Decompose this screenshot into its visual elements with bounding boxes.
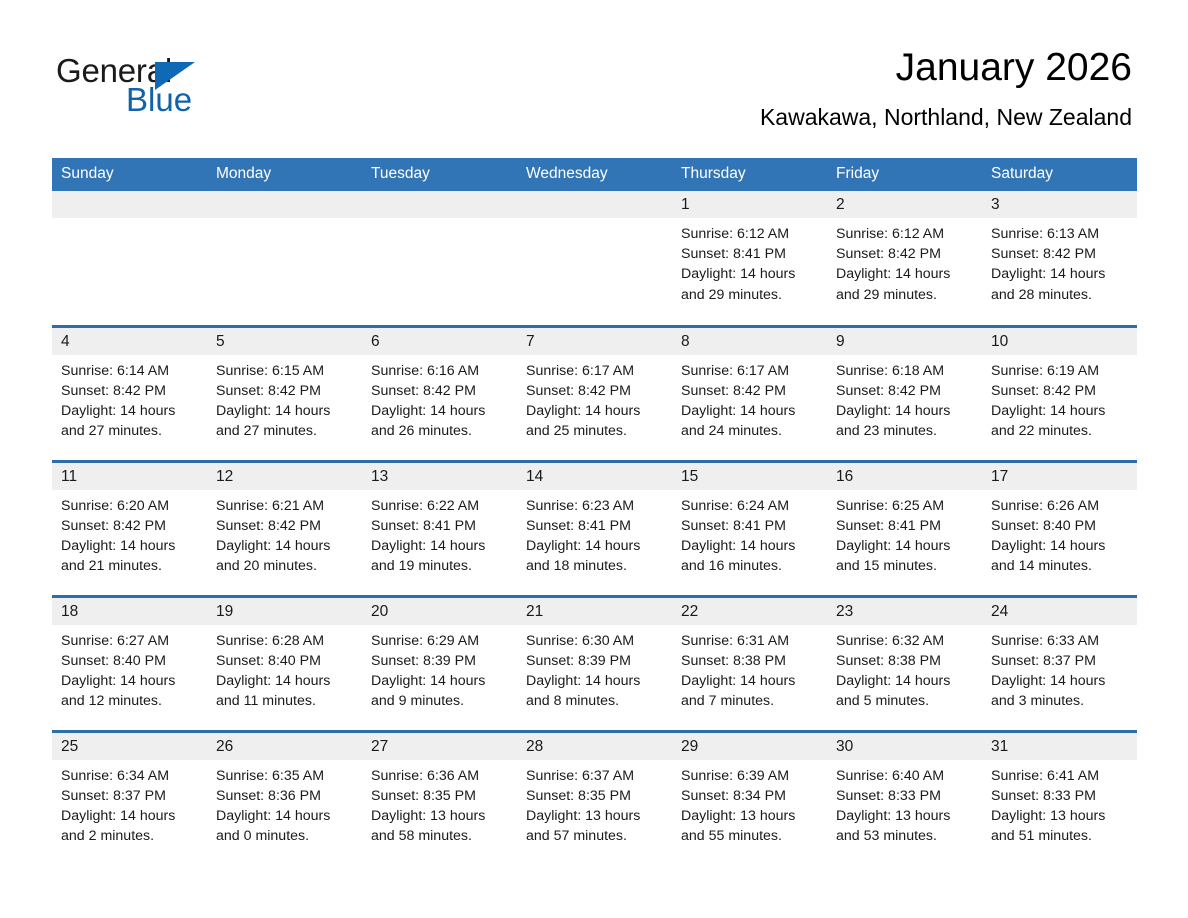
daylight-text-line2: and 12 minutes.: [61, 691, 199, 711]
calendar-day-cell[interactable]: 15Sunrise: 6:24 AMSunset: 8:41 PMDayligh…: [672, 461, 827, 596]
daylight-text-line2: and 11 minutes.: [216, 691, 354, 711]
daylight-text-line2: and 20 minutes.: [216, 556, 354, 576]
daylight-text-line1: Daylight: 14 hours: [216, 671, 354, 691]
calendar-day-cell[interactable]: 17Sunrise: 6:26 AMSunset: 8:40 PMDayligh…: [982, 461, 1137, 596]
day-details: Sunrise: 6:17 AMSunset: 8:42 PMDaylight:…: [672, 355, 827, 442]
calendar-header-row: Sunday Monday Tuesday Wednesday Thursday…: [52, 158, 1137, 191]
daylight-text-line2: and 24 minutes.: [681, 421, 819, 441]
day-details: Sunrise: 6:31 AMSunset: 8:38 PMDaylight:…: [672, 625, 827, 712]
day-details: Sunrise: 6:14 AMSunset: 8:42 PMDaylight:…: [52, 355, 207, 442]
daylight-text-line1: Daylight: 14 hours: [61, 401, 199, 421]
day-number: 20: [362, 598, 517, 625]
day-details: Sunrise: 6:20 AMSunset: 8:42 PMDaylight:…: [52, 490, 207, 577]
day-details: Sunrise: 6:15 AMSunset: 8:42 PMDaylight:…: [207, 355, 362, 442]
daylight-text-line2: and 5 minutes.: [836, 691, 974, 711]
day-number: 10: [982, 328, 1137, 355]
weekday-header-wednesday: Wednesday: [517, 158, 672, 191]
sunrise-text: Sunrise: 6:14 AM: [61, 361, 199, 381]
sunrise-text: Sunrise: 6:26 AM: [991, 496, 1129, 516]
daylight-text-line2: and 26 minutes.: [371, 421, 509, 441]
sunset-text: Sunset: 8:42 PM: [991, 244, 1129, 264]
daylight-text-line2: and 57 minutes.: [526, 826, 664, 846]
calendar-day-cell[interactable]: 6Sunrise: 6:16 AMSunset: 8:42 PMDaylight…: [362, 326, 517, 461]
daylight-text-line1: Daylight: 14 hours: [61, 671, 199, 691]
day-details: Sunrise: 6:32 AMSunset: 8:38 PMDaylight:…: [827, 625, 982, 712]
calendar-table: Sunday Monday Tuesday Wednesday Thursday…: [52, 158, 1137, 866]
daylight-text-line1: Daylight: 14 hours: [681, 536, 819, 556]
sunrise-text: Sunrise: 6:32 AM: [836, 631, 974, 651]
daylight-text-line1: Daylight: 14 hours: [681, 401, 819, 421]
daylight-text-line2: and 0 minutes.: [216, 826, 354, 846]
day-details: Sunrise: 6:41 AMSunset: 8:33 PMDaylight:…: [982, 760, 1137, 847]
weekday-header-saturday: Saturday: [982, 158, 1137, 191]
sunrise-text: Sunrise: 6:25 AM: [836, 496, 974, 516]
sunrise-text: Sunrise: 6:37 AM: [526, 766, 664, 786]
calendar-day-cell[interactable]: 11Sunrise: 6:20 AMSunset: 8:42 PMDayligh…: [52, 461, 207, 596]
daylight-text-line1: Daylight: 14 hours: [216, 536, 354, 556]
sunrise-text: Sunrise: 6:23 AM: [526, 496, 664, 516]
day-number: 13: [362, 463, 517, 490]
sunrise-text: Sunrise: 6:12 AM: [836, 224, 974, 244]
sunset-text: Sunset: 8:39 PM: [526, 651, 664, 671]
day-details: Sunrise: 6:17 AMSunset: 8:42 PMDaylight:…: [517, 355, 672, 442]
daylight-text-line1: Daylight: 14 hours: [836, 401, 974, 421]
day-number: 9: [827, 328, 982, 355]
daylight-text-line2: and 18 minutes.: [526, 556, 664, 576]
day-number: 11: [52, 463, 207, 490]
sunrise-text: Sunrise: 6:12 AM: [681, 224, 819, 244]
daylight-text-line2: and 27 minutes.: [61, 421, 199, 441]
weekday-header-sunday: Sunday: [52, 158, 207, 191]
calendar-day-cell[interactable]: 2Sunrise: 6:12 AMSunset: 8:42 PMDaylight…: [827, 191, 982, 326]
daylight-text-line1: Daylight: 14 hours: [836, 264, 974, 284]
sunset-text: Sunset: 8:41 PM: [681, 516, 819, 536]
calendar-day-cell-empty: [362, 191, 517, 326]
daylight-text-line1: Daylight: 14 hours: [681, 264, 819, 284]
day-number: 30: [827, 733, 982, 760]
calendar-day-cell[interactable]: 5Sunrise: 6:15 AMSunset: 8:42 PMDaylight…: [207, 326, 362, 461]
sunrise-text: Sunrise: 6:13 AM: [991, 224, 1129, 244]
day-details: Sunrise: 6:26 AMSunset: 8:40 PMDaylight:…: [982, 490, 1137, 577]
day-details: Sunrise: 6:21 AMSunset: 8:42 PMDaylight:…: [207, 490, 362, 577]
sunset-text: Sunset: 8:42 PM: [61, 381, 199, 401]
sunset-text: Sunset: 8:39 PM: [371, 651, 509, 671]
calendar-week-row: 18Sunrise: 6:27 AMSunset: 8:40 PMDayligh…: [52, 596, 1137, 731]
daylight-text-line1: Daylight: 14 hours: [991, 671, 1129, 691]
logo-text-blue: Blue: [126, 81, 192, 119]
daylight-text-line2: and 29 minutes.: [836, 285, 974, 305]
daylight-text-line1: Daylight: 14 hours: [836, 536, 974, 556]
day-details: Sunrise: 6:13 AMSunset: 8:42 PMDaylight:…: [982, 218, 1137, 305]
calendar-day-cell[interactable]: 18Sunrise: 6:27 AMSunset: 8:40 PMDayligh…: [52, 596, 207, 731]
sunset-text: Sunset: 8:42 PM: [371, 381, 509, 401]
sunrise-text: Sunrise: 6:35 AM: [216, 766, 354, 786]
day-number: 16: [827, 463, 982, 490]
sunrise-text: Sunrise: 6:19 AM: [991, 361, 1129, 381]
calendar-week-row: 25Sunrise: 6:34 AMSunset: 8:37 PMDayligh…: [52, 731, 1137, 866]
sunrise-text: Sunrise: 6:39 AM: [681, 766, 819, 786]
daylight-text-line1: Daylight: 13 hours: [526, 806, 664, 826]
day-number: 4: [52, 328, 207, 355]
calendar-day-cell-empty: [207, 191, 362, 326]
daylight-text-line2: and 53 minutes.: [836, 826, 974, 846]
calendar-week-row: 11Sunrise: 6:20 AMSunset: 8:42 PMDayligh…: [52, 461, 1137, 596]
title-block: January 2026 Kawakawa, Northland, New Ze…: [760, 44, 1132, 132]
sunset-text: Sunset: 8:33 PM: [836, 786, 974, 806]
sunset-text: Sunset: 8:41 PM: [526, 516, 664, 536]
day-number: 21: [517, 598, 672, 625]
daylight-text-line2: and 51 minutes.: [991, 826, 1129, 846]
calendar-day-cell[interactable]: 30Sunrise: 6:40 AMSunset: 8:33 PMDayligh…: [827, 731, 982, 866]
day-number: 5: [207, 328, 362, 355]
sunrise-text: Sunrise: 6:27 AM: [61, 631, 199, 651]
daylight-text-line2: and 29 minutes.: [681, 285, 819, 305]
day-details: Sunrise: 6:25 AMSunset: 8:41 PMDaylight:…: [827, 490, 982, 577]
sunrise-text: Sunrise: 6:16 AM: [371, 361, 509, 381]
daylight-text-line1: Daylight: 14 hours: [526, 536, 664, 556]
day-details: Sunrise: 6:36 AMSunset: 8:35 PMDaylight:…: [362, 760, 517, 847]
calendar-day-cell[interactable]: 16Sunrise: 6:25 AMSunset: 8:41 PMDayligh…: [827, 461, 982, 596]
day-number: 1: [672, 191, 827, 218]
sunset-text: Sunset: 8:42 PM: [216, 516, 354, 536]
calendar-body: 1Sunrise: 6:12 AMSunset: 8:41 PMDaylight…: [52, 191, 1137, 866]
sunset-text: Sunset: 8:42 PM: [991, 381, 1129, 401]
calendar-day-cell[interactable]: 20Sunrise: 6:29 AMSunset: 8:39 PMDayligh…: [362, 596, 517, 731]
daylight-text-line2: and 16 minutes.: [681, 556, 819, 576]
daylight-text-line1: Daylight: 14 hours: [371, 671, 509, 691]
day-details: Sunrise: 6:30 AMSunset: 8:39 PMDaylight:…: [517, 625, 672, 712]
daylight-text-line1: Daylight: 13 hours: [371, 806, 509, 826]
weekday-header-tuesday: Tuesday: [362, 158, 517, 191]
daylight-text-line1: Daylight: 14 hours: [991, 264, 1129, 284]
daylight-text-line1: Daylight: 14 hours: [526, 401, 664, 421]
sunset-text: Sunset: 8:41 PM: [836, 516, 974, 536]
daylight-text-line2: and 21 minutes.: [61, 556, 199, 576]
sunset-text: Sunset: 8:38 PM: [681, 651, 819, 671]
daylight-text-line1: Daylight: 13 hours: [991, 806, 1129, 826]
daylight-text-line2: and 23 minutes.: [836, 421, 974, 441]
daylight-text-line2: and 58 minutes.: [371, 826, 509, 846]
daylight-text-line1: Daylight: 14 hours: [61, 536, 199, 556]
sunrise-text: Sunrise: 6:15 AM: [216, 361, 354, 381]
day-number: 12: [207, 463, 362, 490]
calendar-day-cell[interactable]: 31Sunrise: 6:41 AMSunset: 8:33 PMDayligh…: [982, 731, 1137, 866]
sunset-text: Sunset: 8:40 PM: [61, 651, 199, 671]
weekday-header-thursday: Thursday: [672, 158, 827, 191]
daylight-text-line1: Daylight: 14 hours: [61, 806, 199, 826]
calendar-day-cell[interactable]: 28Sunrise: 6:37 AMSunset: 8:35 PMDayligh…: [517, 731, 672, 866]
day-number: 24: [982, 598, 1137, 625]
sunset-text: Sunset: 8:37 PM: [991, 651, 1129, 671]
sunrise-text: Sunrise: 6:34 AM: [61, 766, 199, 786]
daylight-text-line2: and 7 minutes.: [681, 691, 819, 711]
calendar-day-cell[interactable]: 10Sunrise: 6:19 AMSunset: 8:42 PMDayligh…: [982, 326, 1137, 461]
generalblue-logo[interactable]: General Blue: [56, 52, 236, 124]
day-details: Sunrise: 6:23 AMSunset: 8:41 PMDaylight:…: [517, 490, 672, 577]
day-number: 23: [827, 598, 982, 625]
calendar-day-cell[interactable]: 22Sunrise: 6:31 AMSunset: 8:38 PMDayligh…: [672, 596, 827, 731]
sunset-text: Sunset: 8:42 PM: [836, 244, 974, 264]
sunset-text: Sunset: 8:36 PM: [216, 786, 354, 806]
sunrise-text: Sunrise: 6:33 AM: [991, 631, 1129, 651]
calendar-day-cell[interactable]: 25Sunrise: 6:34 AMSunset: 8:37 PMDayligh…: [52, 731, 207, 866]
sunset-text: Sunset: 8:33 PM: [991, 786, 1129, 806]
daylight-text-line1: Daylight: 14 hours: [216, 806, 354, 826]
day-number: 2: [827, 191, 982, 218]
calendar-day-cell[interactable]: 24Sunrise: 6:33 AMSunset: 8:37 PMDayligh…: [982, 596, 1137, 731]
daylight-text-line1: Daylight: 14 hours: [371, 401, 509, 421]
daylight-text-line2: and 25 minutes.: [526, 421, 664, 441]
calendar-container: Sunday Monday Tuesday Wednesday Thursday…: [52, 158, 1137, 866]
calendar-page: General Blue January 2026 Kawakawa, Nort…: [0, 0, 1188, 918]
calendar-day-cell[interactable]: 7Sunrise: 6:17 AMSunset: 8:42 PMDaylight…: [517, 326, 672, 461]
daylight-text-line2: and 27 minutes.: [216, 421, 354, 441]
sunset-text: Sunset: 8:42 PM: [681, 381, 819, 401]
day-number: 29: [672, 733, 827, 760]
page-title: January 2026: [760, 44, 1132, 92]
day-details: Sunrise: 6:19 AMSunset: 8:42 PMDaylight:…: [982, 355, 1137, 442]
day-number: 7: [517, 328, 672, 355]
sunset-text: Sunset: 8:35 PM: [526, 786, 664, 806]
calendar-day-cell-empty: [517, 191, 672, 326]
day-number: 15: [672, 463, 827, 490]
day-details: Sunrise: 6:29 AMSunset: 8:39 PMDaylight:…: [362, 625, 517, 712]
day-number: 19: [207, 598, 362, 625]
sunrise-text: Sunrise: 6:18 AM: [836, 361, 974, 381]
calendar-day-cell[interactable]: 13Sunrise: 6:22 AMSunset: 8:41 PMDayligh…: [362, 461, 517, 596]
sunset-text: Sunset: 8:41 PM: [681, 244, 819, 264]
calendar-day-cell[interactable]: 12Sunrise: 6:21 AMSunset: 8:42 PMDayligh…: [207, 461, 362, 596]
daylight-text-line1: Daylight: 14 hours: [991, 536, 1129, 556]
calendar-day-cell-empty: [52, 191, 207, 326]
sunset-text: Sunset: 8:40 PM: [991, 516, 1129, 536]
day-details: Sunrise: 6:12 AMSunset: 8:42 PMDaylight:…: [827, 218, 982, 305]
calendar-day-cell[interactable]: 3Sunrise: 6:13 AMSunset: 8:42 PMDaylight…: [982, 191, 1137, 326]
day-details: Sunrise: 6:18 AMSunset: 8:42 PMDaylight:…: [827, 355, 982, 442]
day-details: Sunrise: 6:16 AMSunset: 8:42 PMDaylight:…: [362, 355, 517, 442]
day-number: 14: [517, 463, 672, 490]
sunset-text: Sunset: 8:38 PM: [836, 651, 974, 671]
daylight-text-line1: Daylight: 14 hours: [836, 671, 974, 691]
page-header: General Blue January 2026 Kawakawa, Nort…: [0, 0, 1188, 118]
sunset-text: Sunset: 8:42 PM: [836, 381, 974, 401]
day-number: 31: [982, 733, 1137, 760]
sunrise-text: Sunrise: 6:40 AM: [836, 766, 974, 786]
daylight-text-line1: Daylight: 14 hours: [216, 401, 354, 421]
day-number: 27: [362, 733, 517, 760]
sunrise-text: Sunrise: 6:30 AM: [526, 631, 664, 651]
sunrise-text: Sunrise: 6:20 AM: [61, 496, 199, 516]
sunrise-text: Sunrise: 6:22 AM: [371, 496, 509, 516]
weekday-header-friday: Friday: [827, 158, 982, 191]
day-number: 22: [672, 598, 827, 625]
sunrise-text: Sunrise: 6:31 AM: [681, 631, 819, 651]
daylight-text-line2: and 9 minutes.: [371, 691, 509, 711]
sunset-text: Sunset: 8:34 PM: [681, 786, 819, 806]
daylight-text-line2: and 55 minutes.: [681, 826, 819, 846]
day-number: [207, 191, 362, 218]
daylight-text-line1: Daylight: 14 hours: [681, 671, 819, 691]
daylight-text-line2: and 28 minutes.: [991, 285, 1129, 305]
calendar-day-cell[interactable]: 21Sunrise: 6:30 AMSunset: 8:39 PMDayligh…: [517, 596, 672, 731]
daylight-text-line2: and 3 minutes.: [991, 691, 1129, 711]
sunrise-text: Sunrise: 6:29 AM: [371, 631, 509, 651]
calendar-day-cell[interactable]: 19Sunrise: 6:28 AMSunset: 8:40 PMDayligh…: [207, 596, 362, 731]
day-number: [517, 191, 672, 218]
daylight-text-line2: and 2 minutes.: [61, 826, 199, 846]
sunset-text: Sunset: 8:40 PM: [216, 651, 354, 671]
day-number: 28: [517, 733, 672, 760]
day-details: Sunrise: 6:39 AMSunset: 8:34 PMDaylight:…: [672, 760, 827, 847]
calendar-day-cell[interactable]: 23Sunrise: 6:32 AMSunset: 8:38 PMDayligh…: [827, 596, 982, 731]
day-number: [362, 191, 517, 218]
day-details: Sunrise: 6:24 AMSunset: 8:41 PMDaylight:…: [672, 490, 827, 577]
day-details: Sunrise: 6:40 AMSunset: 8:33 PMDaylight:…: [827, 760, 982, 847]
sunrise-text: Sunrise: 6:17 AM: [681, 361, 819, 381]
sunset-text: Sunset: 8:37 PM: [61, 786, 199, 806]
sunrise-text: Sunrise: 6:24 AM: [681, 496, 819, 516]
daylight-text-line2: and 8 minutes.: [526, 691, 664, 711]
daylight-text-line1: Daylight: 13 hours: [836, 806, 974, 826]
daylight-text-line2: and 14 minutes.: [991, 556, 1129, 576]
daylight-text-line1: Daylight: 13 hours: [681, 806, 819, 826]
daylight-text-line2: and 15 minutes.: [836, 556, 974, 576]
sunset-text: Sunset: 8:41 PM: [371, 516, 509, 536]
daylight-text-line1: Daylight: 14 hours: [526, 671, 664, 691]
day-details: Sunrise: 6:22 AMSunset: 8:41 PMDaylight:…: [362, 490, 517, 577]
day-details: Sunrise: 6:37 AMSunset: 8:35 PMDaylight:…: [517, 760, 672, 847]
day-number: [52, 191, 207, 218]
calendar-day-cell[interactable]: 27Sunrise: 6:36 AMSunset: 8:35 PMDayligh…: [362, 731, 517, 866]
calendar-week-row: 4Sunrise: 6:14 AMSunset: 8:42 PMDaylight…: [52, 326, 1137, 461]
day-number: 18: [52, 598, 207, 625]
day-details: Sunrise: 6:34 AMSunset: 8:37 PMDaylight:…: [52, 760, 207, 847]
sunrise-text: Sunrise: 6:36 AM: [371, 766, 509, 786]
calendar-day-cell[interactable]: 14Sunrise: 6:23 AMSunset: 8:41 PMDayligh…: [517, 461, 672, 596]
day-number: 26: [207, 733, 362, 760]
page-subtitle: Kawakawa, Northland, New Zealand: [760, 102, 1132, 132]
calendar-week-row: 1Sunrise: 6:12 AMSunset: 8:41 PMDaylight…: [52, 191, 1137, 326]
calendar-day-cell[interactable]: 1Sunrise: 6:12 AMSunset: 8:41 PMDaylight…: [672, 191, 827, 326]
calendar-day-cell[interactable]: 29Sunrise: 6:39 AMSunset: 8:34 PMDayligh…: [672, 731, 827, 866]
weekday-header-monday: Monday: [207, 158, 362, 191]
calendar-day-cell[interactable]: 26Sunrise: 6:35 AMSunset: 8:36 PMDayligh…: [207, 731, 362, 866]
day-details: Sunrise: 6:12 AMSunset: 8:41 PMDaylight:…: [672, 218, 827, 305]
day-details: Sunrise: 6:35 AMSunset: 8:36 PMDaylight:…: [207, 760, 362, 847]
calendar-day-cell[interactable]: 4Sunrise: 6:14 AMSunset: 8:42 PMDaylight…: [52, 326, 207, 461]
sunset-text: Sunset: 8:42 PM: [61, 516, 199, 536]
day-number: 25: [52, 733, 207, 760]
calendar-day-cell[interactable]: 9Sunrise: 6:18 AMSunset: 8:42 PMDaylight…: [827, 326, 982, 461]
sunset-text: Sunset: 8:42 PM: [216, 381, 354, 401]
day-details: Sunrise: 6:28 AMSunset: 8:40 PMDaylight:…: [207, 625, 362, 712]
daylight-text-line1: Daylight: 14 hours: [991, 401, 1129, 421]
sunrise-text: Sunrise: 6:28 AM: [216, 631, 354, 651]
calendar-day-cell[interactable]: 8Sunrise: 6:17 AMSunset: 8:42 PMDaylight…: [672, 326, 827, 461]
day-number: 8: [672, 328, 827, 355]
sunrise-text: Sunrise: 6:17 AM: [526, 361, 664, 381]
daylight-text-line1: Daylight: 14 hours: [371, 536, 509, 556]
daylight-text-line2: and 19 minutes.: [371, 556, 509, 576]
day-details: Sunrise: 6:33 AMSunset: 8:37 PMDaylight:…: [982, 625, 1137, 712]
day-number: 17: [982, 463, 1137, 490]
sunrise-text: Sunrise: 6:21 AM: [216, 496, 354, 516]
sunset-text: Sunset: 8:42 PM: [526, 381, 664, 401]
sunset-text: Sunset: 8:35 PM: [371, 786, 509, 806]
day-details: Sunrise: 6:27 AMSunset: 8:40 PMDaylight:…: [52, 625, 207, 712]
day-number: 3: [982, 191, 1137, 218]
daylight-text-line2: and 22 minutes.: [991, 421, 1129, 441]
day-number: 6: [362, 328, 517, 355]
sunrise-text: Sunrise: 6:41 AM: [991, 766, 1129, 786]
